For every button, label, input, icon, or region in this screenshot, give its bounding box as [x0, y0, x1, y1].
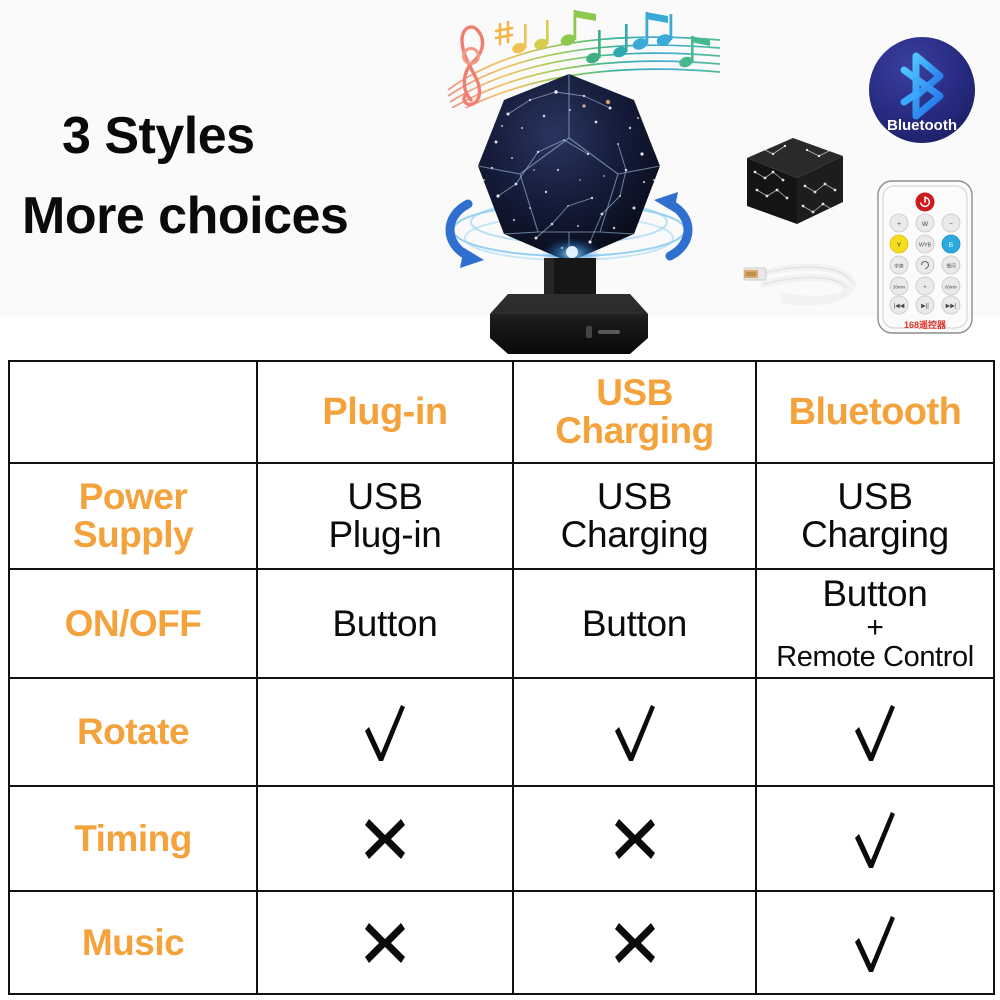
svg-text:60min: 60min — [945, 285, 958, 290]
usb-cable — [740, 248, 862, 316]
check-mark-icon — [849, 912, 901, 974]
cell-power-supply-bluetooth: USB Charging — [756, 463, 994, 569]
svg-text:|◀◀: |◀◀ — [894, 304, 905, 310]
cell-rotate-bluetooth — [756, 678, 994, 786]
cell-on-off-plug-in: Button — [257, 569, 513, 678]
table-row-music: Music — [9, 891, 994, 994]
check-mark-icon — [609, 701, 661, 763]
svg-text:−: − — [949, 221, 953, 228]
svg-text:+: + — [897, 221, 901, 228]
cell-power-supply-plug-in: USB Plug-in — [257, 463, 513, 569]
table-row-power-supply: Power Supply USB Plug-in USB Charging US… — [9, 463, 994, 569]
cross-mark-icon — [361, 919, 409, 967]
svg-text:中速: 中速 — [894, 263, 904, 270]
headline-line-2: More choices — [22, 186, 348, 246]
header-cell-bluetooth: Bluetooth — [756, 361, 994, 463]
star-projector-lamp — [438, 62, 700, 358]
cross-mark-icon — [361, 815, 409, 863]
svg-text:+: + — [924, 285, 927, 291]
cell-music-usb-charging — [513, 891, 756, 994]
check-mark-icon — [849, 808, 901, 870]
bluetooth-badge-label: Bluetooth — [887, 117, 957, 134]
header-cell-blank — [9, 361, 257, 463]
table-row-timing: Timing — [9, 786, 994, 891]
table-header-row: Plug-in USB Charging Bluetooth — [9, 361, 994, 463]
cell-timing-usb-charging — [513, 786, 756, 891]
check-mark-icon — [359, 701, 411, 763]
constellation-gift-box — [733, 128, 853, 238]
comparison-table: Plug-in USB Charging Bluetooth Power Sup… — [8, 360, 995, 995]
cell-music-plug-in — [257, 891, 513, 994]
remote-model-label: 168遥控器 — [904, 319, 947, 330]
header-cell-plug-in: Plug-in — [257, 361, 513, 463]
check-mark-icon — [849, 701, 901, 763]
row-label-power-supply: Power Supply — [9, 463, 257, 569]
svg-text:▶▶|: ▶▶| — [946, 304, 957, 310]
cell-on-off-usb-charging: Button — [513, 569, 756, 678]
bluetooth-badge: Bluetooth — [866, 34, 978, 146]
header-cell-usb-charging: USB Charging — [513, 361, 756, 463]
svg-text:▶||: ▶|| — [921, 304, 929, 310]
cell-rotate-usb-charging — [513, 678, 756, 786]
cross-mark-icon — [611, 919, 659, 967]
remote-control: + W − Y WYB B 中速 慢闪 30min + 60min — [872, 178, 978, 336]
cross-mark-icon — [611, 815, 659, 863]
table-row-rotate: Rotate — [9, 678, 994, 786]
svg-text:B: B — [949, 242, 954, 249]
svg-text:慢闪: 慢闪 — [946, 263, 956, 270]
cell-timing-plug-in — [257, 786, 513, 891]
svg-text:W: W — [922, 221, 929, 228]
row-label-on-off: ON/OFF — [9, 569, 257, 678]
headline-line-1: 3 Styles — [62, 106, 255, 166]
row-label-timing: Timing — [9, 786, 257, 891]
row-label-music: Music — [9, 891, 257, 994]
cell-rotate-plug-in — [257, 678, 513, 786]
cell-power-supply-usb-charging: USB Charging — [513, 463, 756, 569]
svg-text:30min: 30min — [893, 285, 906, 290]
cell-music-bluetooth — [756, 891, 994, 994]
row-label-rotate: Rotate — [9, 678, 257, 786]
svg-text:Y: Y — [897, 242, 902, 249]
cell-timing-bluetooth — [756, 786, 994, 891]
svg-text:WYB: WYB — [919, 243, 932, 249]
table-row-on-off: ON/OFF Button Button Button + Remote Con… — [9, 569, 994, 678]
hero-banner: 3 Styles More choices — [0, 0, 1000, 360]
cell-on-off-bluetooth: Button + Remote Control — [756, 569, 994, 678]
